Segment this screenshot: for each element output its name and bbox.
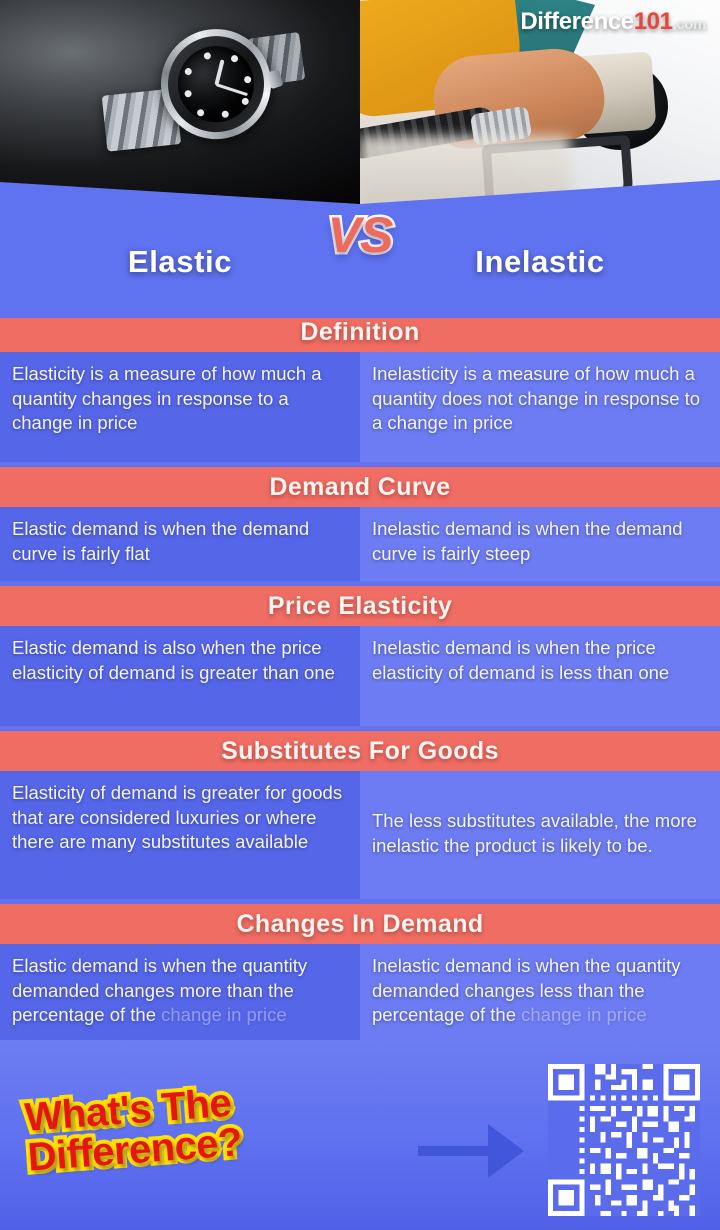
section-title: Substitutes For Goods	[221, 737, 499, 766]
cell-right: Inelastic demand is when the demand curv…	[360, 507, 720, 581]
vs-badge: VS	[0, 206, 720, 264]
cell-right-text-fade: change in price	[521, 1004, 646, 1025]
section-body-definition: Elasticity is a measure of how much a qu…	[0, 352, 720, 462]
section-title: Price Elasticity	[268, 592, 452, 621]
section-body-demand-curve: Elastic demand is when the demand curve …	[0, 507, 720, 581]
section-title: Demand Curve	[269, 473, 450, 502]
section-title: Definition	[300, 318, 419, 347]
section-header-price-elasticity: Price Elasticity	[0, 586, 720, 626]
cell-left: Elastic demand is also when the price el…	[0, 626, 360, 726]
logo-number: 101	[634, 8, 673, 35]
site-logo[interactable]: Difference101.com	[520, 8, 706, 36]
cell-right-text: The less substitutes available, the more…	[372, 809, 708, 858]
section-header-changes-in-demand: Changes In Demand	[0, 904, 720, 944]
comparison-table: Definition Elasticity is a measure of ho…	[0, 312, 720, 1062]
qr-code[interactable]	[548, 1064, 700, 1216]
section-body-price-elasticity: Elastic demand is also when the price el…	[0, 626, 720, 726]
section-header-demand-curve: Demand Curve	[0, 467, 720, 507]
cell-left-text-fade: change in price	[161, 1004, 286, 1025]
section-body-substitutes-for-goods: Elasticity of demand is greater for good…	[0, 771, 720, 899]
cell-left: Elasticity is a measure of how much a qu…	[0, 352, 360, 462]
cell-left: Elasticity of demand is greater for good…	[0, 771, 360, 899]
logo-word: Difference	[520, 8, 633, 35]
cell-right: The less substitutes available, the more…	[360, 771, 720, 899]
cta-whats-the-difference: What's The Difference?	[23, 1082, 243, 1177]
cell-right: Inelastic demand is when the price elast…	[360, 626, 720, 726]
right-arrow-icon	[418, 1120, 526, 1187]
cell-left: Elastic demand is when the demand curve …	[0, 507, 360, 581]
logo-tld: .com	[673, 16, 706, 33]
section-title: Changes In Demand	[236, 910, 483, 939]
cell-right: Inelasticity is a measure of how much a …	[360, 352, 720, 462]
section-header-definition: Definition	[0, 312, 720, 352]
section-header-substitutes-for-goods: Substitutes For Goods	[0, 731, 720, 771]
infographic-page: Difference101.com Elastic Inelastic VS D…	[0, 0, 720, 1230]
wristwatch-illustration	[126, 0, 315, 188]
